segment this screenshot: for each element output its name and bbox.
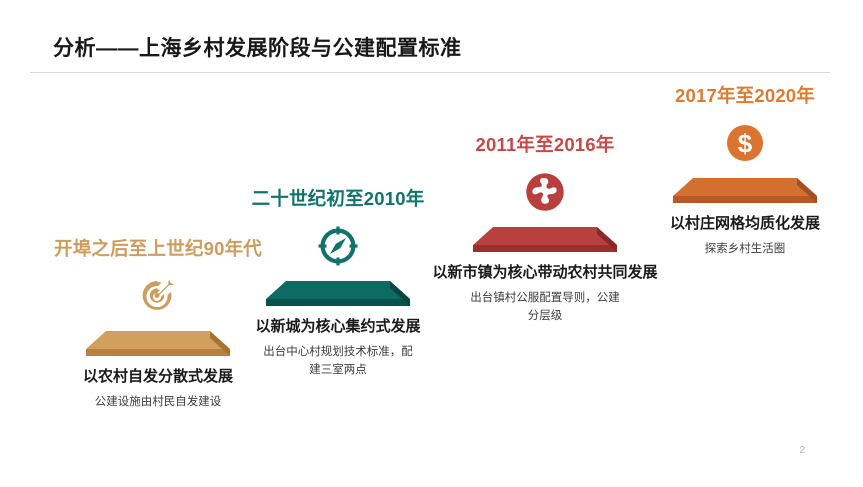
stage-4-period-label: 2017年至2020年 <box>620 85 863 106</box>
stage-3-description: 出台镇村公服配置导则，公建分层级 <box>465 290 625 326</box>
stage-4-name: 以村庄网格均质化发展 <box>620 215 863 233</box>
stage-1-platform <box>84 327 232 361</box>
title-divider <box>30 72 830 73</box>
svg-text:$: $ <box>738 129 753 159</box>
page-title: 分析——上海乡村发展阶段与公建配置标准 <box>53 36 462 61</box>
stage-2-platform <box>264 277 412 311</box>
dollar-coin-icon: $ <box>620 114 863 172</box>
stage-1-description: 公建设施由村民自发建设 <box>33 394 283 412</box>
stage-3-name: 以新市镇为核心带动农村共同发展 <box>420 264 670 282</box>
slide-canvas: 分析——上海乡村发展阶段与公建配置标准 开埠之后至上世纪90年代 以农村自发分散… <box>0 0 863 487</box>
stage-4-description: 探索乡村生活圈 <box>620 241 863 259</box>
stage-2-description: 出台中心村规划技术标准，配建三室两点 <box>258 344 418 380</box>
stage-3-platform <box>471 223 619 257</box>
stage-4-platform <box>671 174 819 208</box>
page-number: 2 <box>799 445 805 456</box>
stage-block-4: 2017年至2020年 $ 以村庄网格均质化发展 探索乡村生活圈 <box>620 85 863 259</box>
